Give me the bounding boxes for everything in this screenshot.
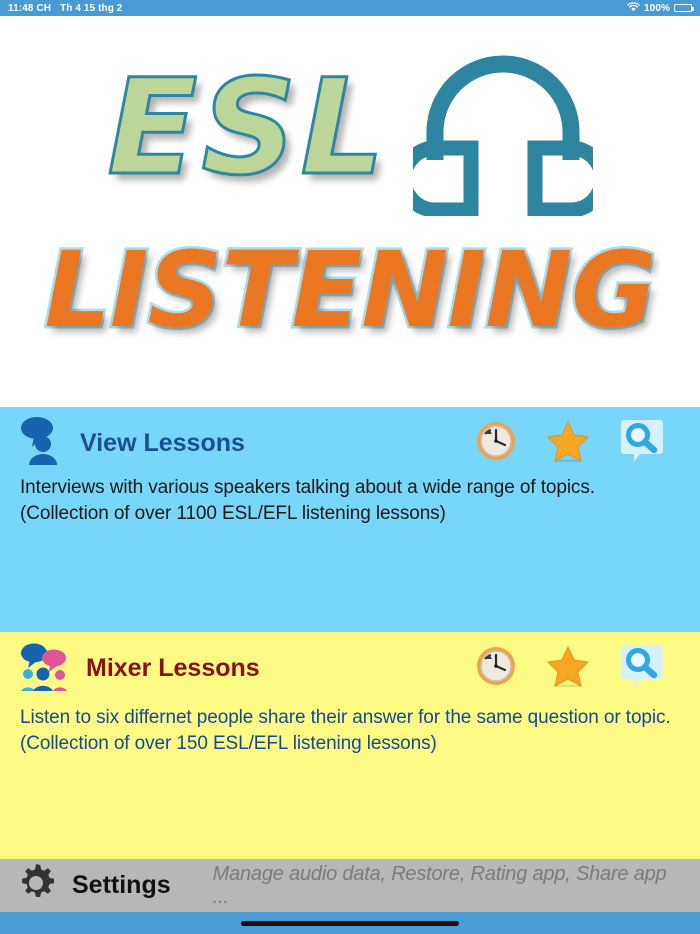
- mixer-lessons-description: Listen to six differnet people share the…: [20, 705, 680, 757]
- section-view-lessons[interactable]: View Lessons: [0, 407, 700, 632]
- mixer-lessons-header: Mixer Lessons: [20, 632, 680, 696]
- recent-clock-icon[interactable]: [476, 421, 516, 466]
- search-icon[interactable]: [620, 418, 664, 469]
- view-lessons-description: Interviews with various speakers talking…: [20, 475, 680, 527]
- battery-full-icon: [674, 4, 692, 12]
- logo-text-listening: LISTENING: [0, 238, 700, 342]
- home-indicator[interactable]: [241, 921, 459, 926]
- view-lessons-actions: [476, 418, 680, 469]
- status-bar-left: 11:48 CH Th 4 15 thg 2: [8, 3, 122, 14]
- logo-top-row: ESL: [0, 40, 700, 221]
- status-bar: 11:48 CH Th 4 15 thg 2 100%: [0, 0, 700, 16]
- recent-clock-icon[interactable]: [476, 646, 516, 691]
- mixer-lessons-actions: [476, 643, 680, 694]
- status-time: 11:48 CH: [8, 3, 51, 14]
- wifi-icon: [627, 2, 640, 15]
- app-logo-area: ESL LISTENING: [0, 16, 700, 407]
- settings-hint: Manage audio data, Restore, Rating app, …: [213, 863, 686, 909]
- headphones-icon: [413, 44, 593, 221]
- logo-text-listening-value: LISTENING: [45, 229, 656, 351]
- favorite-star-icon[interactable]: [546, 420, 590, 467]
- battery-percent-label: 100%: [644, 3, 670, 14]
- favorite-star-icon[interactable]: [546, 645, 590, 692]
- search-icon[interactable]: [620, 643, 664, 694]
- gear-icon[interactable]: [14, 861, 58, 910]
- home-bar: [0, 912, 700, 934]
- person-speech-bubble-icon: [20, 417, 62, 470]
- mixer-lessons-title: Mixer Lessons: [86, 654, 260, 683]
- status-bar-right: 100%: [627, 2, 692, 15]
- settings-label: Settings: [72, 871, 171, 900]
- logo-text-esl: ESL: [107, 62, 388, 200]
- group-speech-bubbles-icon: [20, 641, 68, 696]
- settings-bar[interactable]: Settings Manage audio data, Restore, Rat…: [0, 859, 700, 912]
- section-mixer-lessons[interactable]: Mixer Lessons: [0, 632, 700, 859]
- view-lessons-header: View Lessons: [20, 407, 680, 471]
- view-lessons-title: View Lessons: [80, 429, 245, 458]
- status-date: Th 4 15 thg 2: [60, 3, 122, 14]
